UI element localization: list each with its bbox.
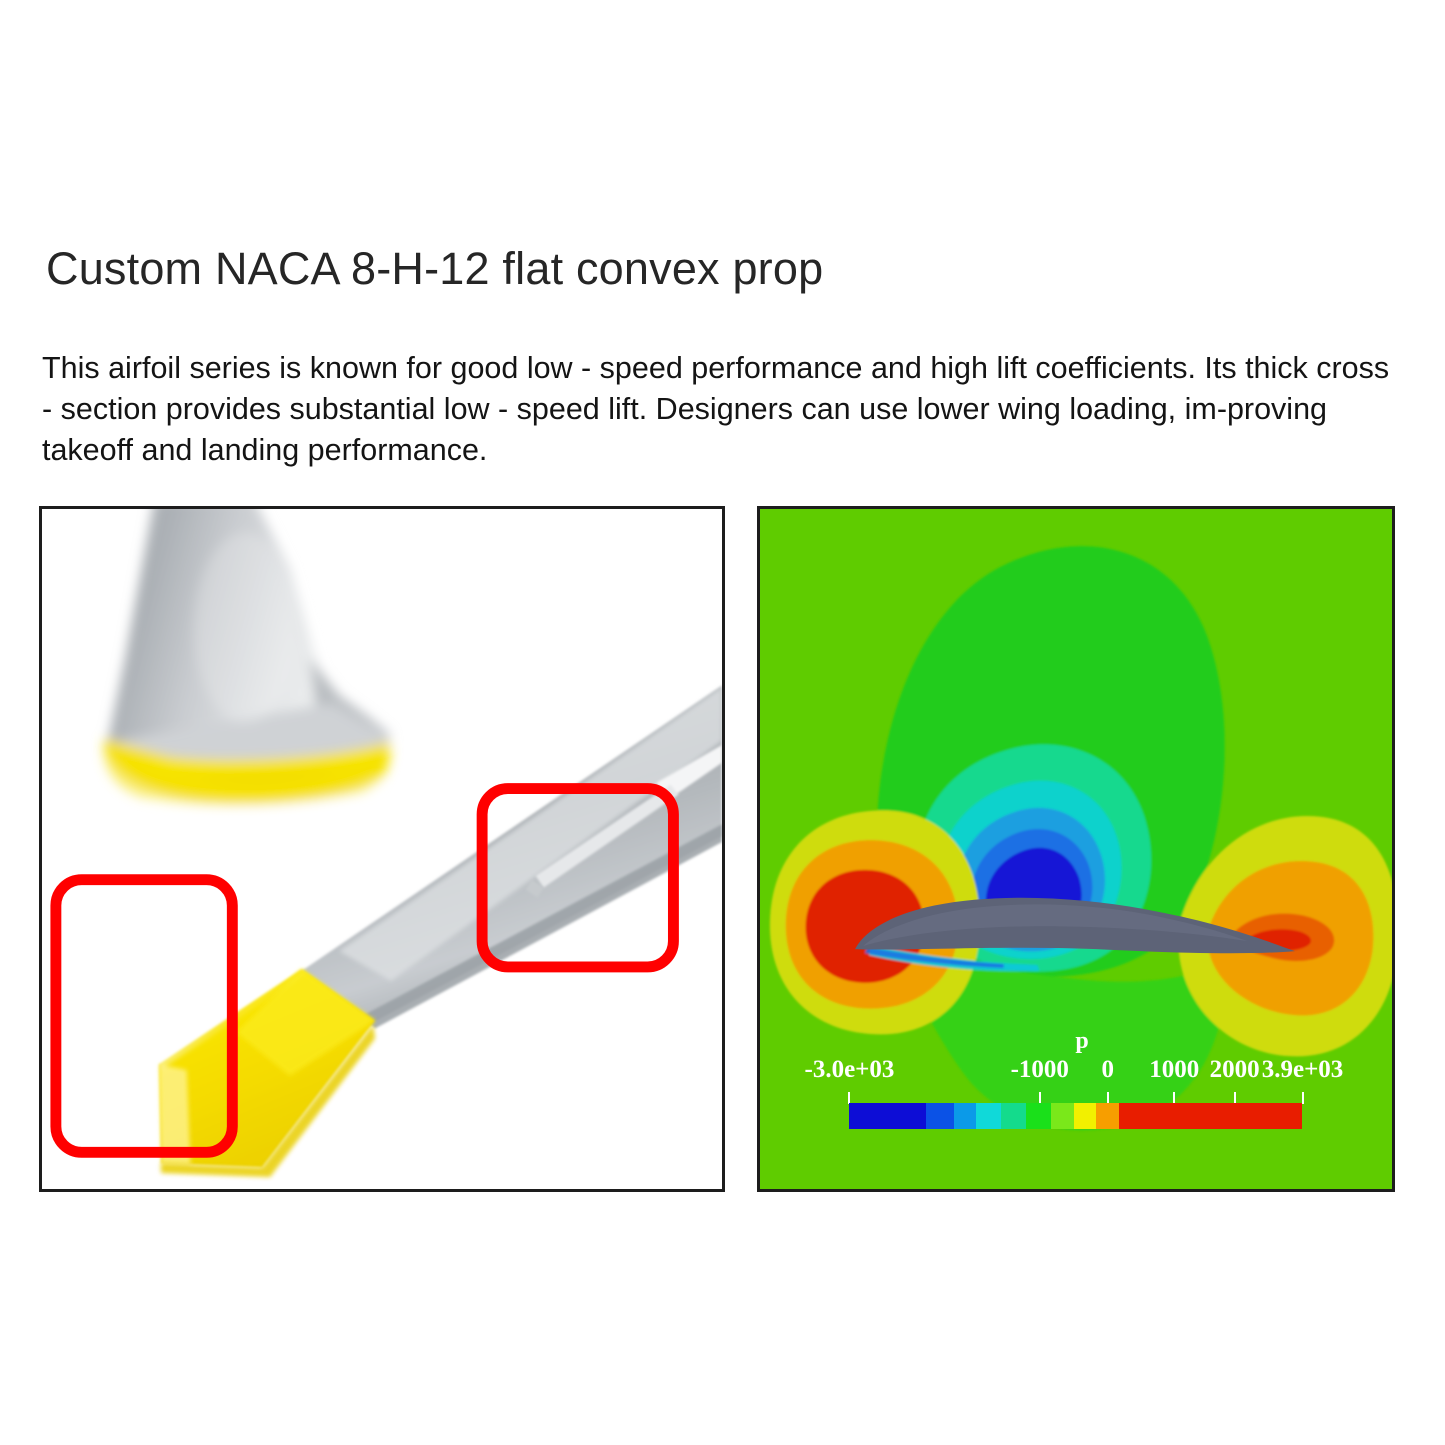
description-paragraph: This airfoil series is known for good lo… bbox=[42, 348, 1394, 471]
colorbar-segment bbox=[1026, 1103, 1051, 1129]
colorbar-tick-label: 0 bbox=[1101, 1057, 1114, 1082]
colorbar-tick-label: 3.9e+03 bbox=[1262, 1057, 1344, 1082]
propeller-blade-photo-image bbox=[42, 509, 722, 1189]
propeller-blade-photo-panel bbox=[39, 506, 725, 1192]
colorbar-segment bbox=[1096, 1103, 1119, 1129]
colorbar: p -3.0e+03-10000100020003.9e+03 bbox=[801, 1029, 1351, 1165]
pressure-contour-panel: p -3.0e+03-10000100020003.9e+03 bbox=[757, 506, 1395, 1192]
colorbar-segment bbox=[1119, 1103, 1302, 1129]
colorbar-segment bbox=[1051, 1103, 1074, 1129]
colorbar-tick-label: -3.0e+03 bbox=[804, 1057, 894, 1082]
colorbar-title: p bbox=[807, 1029, 1357, 1053]
colorbar-tick-label: -1000 bbox=[1011, 1057, 1069, 1082]
colorbar-segment bbox=[1001, 1103, 1026, 1129]
colorbar-segment bbox=[954, 1103, 977, 1129]
colorbar-tick-label: 2000 bbox=[1210, 1057, 1260, 1082]
colorbar-tick-label: 1000 bbox=[1149, 1057, 1199, 1082]
colorbar-segment bbox=[926, 1103, 953, 1129]
colorbar-segment bbox=[976, 1103, 1001, 1129]
colorbar-segment bbox=[1074, 1103, 1097, 1129]
slide-root: Custom NACA 8-H-12 flat convex prop This… bbox=[0, 0, 1445, 1445]
colorbar-gradient bbox=[849, 1103, 1302, 1129]
colorbar-segment bbox=[849, 1103, 926, 1129]
page-title: Custom NACA 8-H-12 flat convex prop bbox=[46, 243, 823, 295]
colorbar-labels: -3.0e+03-10000100020003.9e+03 bbox=[801, 1057, 1351, 1087]
